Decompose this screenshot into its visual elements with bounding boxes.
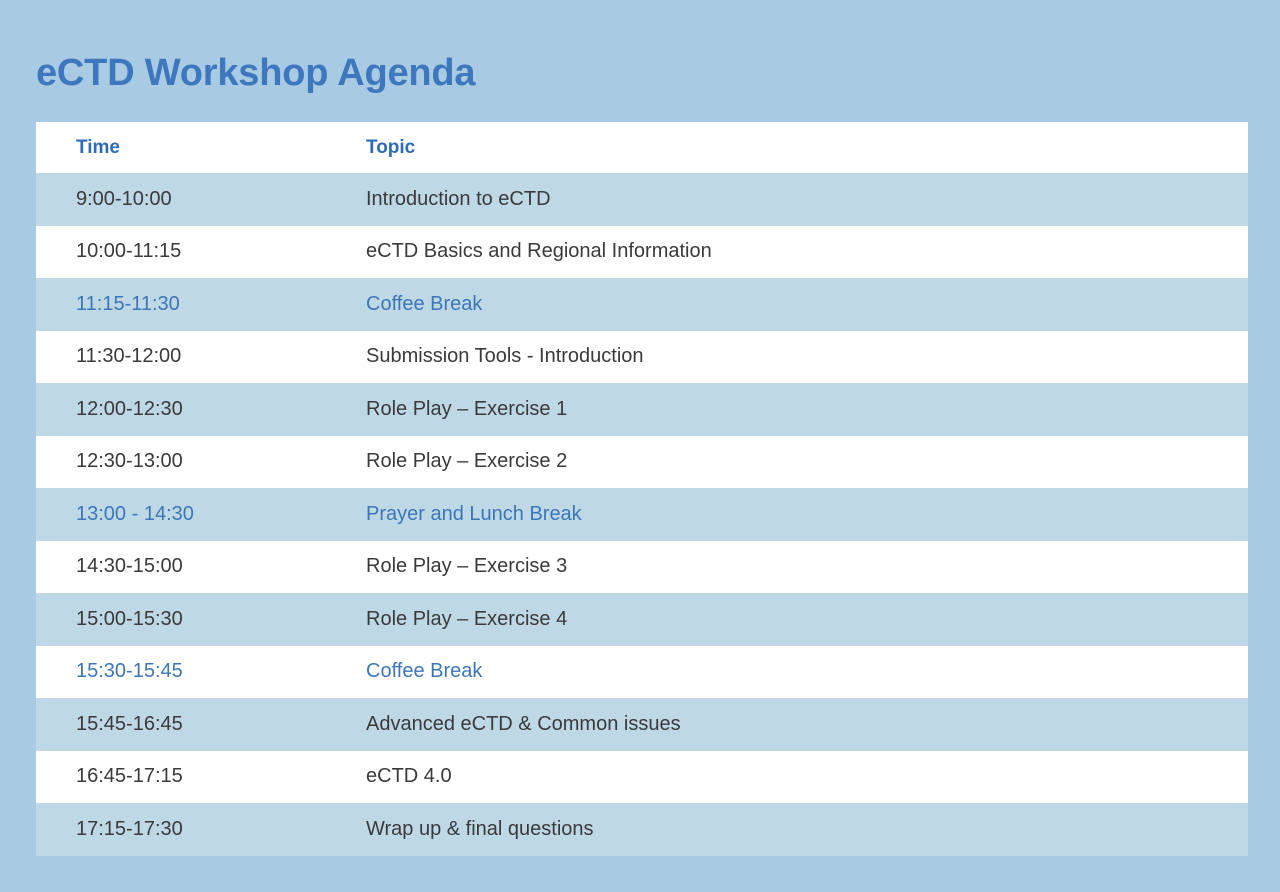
cell-time: 14:30-15:00 — [36, 541, 331, 594]
column-header-time: Time — [36, 122, 331, 173]
table-row: 11:30-12:00Submission Tools - Introducti… — [36, 331, 1248, 384]
table-row: 14:30-15:00Role Play – Exercise 3 — [36, 541, 1248, 594]
cell-time: 13:00 - 14:30 — [36, 488, 331, 541]
column-header-topic: Topic — [331, 122, 1248, 173]
cell-time: 11:15-11:30 — [36, 278, 331, 331]
cell-topic: Advanced eCTD & Common issues — [331, 698, 1248, 751]
table-row: 16:45-17:15eCTD 4.0 — [36, 751, 1248, 804]
cell-topic: eCTD Basics and Regional Information — [331, 226, 1248, 279]
table-header: Time Topic — [36, 122, 1248, 173]
cell-topic: Role Play – Exercise 1 — [331, 383, 1248, 436]
cell-time: 17:15-17:30 — [36, 803, 331, 856]
cell-topic: Role Play – Exercise 4 — [331, 593, 1248, 646]
cell-time: 12:00-12:30 — [36, 383, 331, 436]
cell-topic: Coffee Break — [331, 278, 1248, 331]
table-row: 12:00-12:30Role Play – Exercise 1 — [36, 383, 1248, 436]
table-header-row: Time Topic — [36, 122, 1248, 173]
table-row: 15:00-15:30Role Play – Exercise 4 — [36, 593, 1248, 646]
table-row: 12:30-13:00Role Play – Exercise 2 — [36, 436, 1248, 489]
cell-topic: Introduction to eCTD — [331, 173, 1248, 226]
cell-topic: Wrap up & final questions — [331, 803, 1248, 856]
cell-time: 15:45-16:45 — [36, 698, 331, 751]
page-title: eCTD Workshop Agenda — [36, 48, 475, 98]
cell-topic: Submission Tools - Introduction — [331, 331, 1248, 384]
table-row: 11:15-11:30Coffee Break — [36, 278, 1248, 331]
table-body: 9:00-10:00Introduction to eCTD10:00-11:1… — [36, 173, 1248, 856]
cell-topic: Role Play – Exercise 2 — [331, 436, 1248, 489]
cell-time: 16:45-17:15 — [36, 751, 331, 804]
cell-topic: Prayer and Lunch Break — [331, 488, 1248, 541]
table-row: 9:00-10:00Introduction to eCTD — [36, 173, 1248, 226]
table-row: 10:00-11:15eCTD Basics and Regional Info… — [36, 226, 1248, 279]
cell-time: 15:00-15:30 — [36, 593, 331, 646]
cell-time: 10:00-11:15 — [36, 226, 331, 279]
table-row: 15:45-16:45Advanced eCTD & Common issues — [36, 698, 1248, 751]
cell-topic: Role Play – Exercise 3 — [331, 541, 1248, 594]
cell-time: 9:00-10:00 — [36, 173, 331, 226]
cell-time: 15:30-15:45 — [36, 646, 331, 699]
cell-topic: eCTD 4.0 — [331, 751, 1248, 804]
cell-topic: Coffee Break — [331, 646, 1248, 699]
agenda-page: eCTD Workshop Agenda Time Topic 9:00-10:… — [0, 0, 1280, 892]
table-row: 17:15-17:30Wrap up & final questions — [36, 803, 1248, 856]
table-row: 13:00 - 14:30Prayer and Lunch Break — [36, 488, 1248, 541]
table-row: 15:30-15:45Coffee Break — [36, 646, 1248, 699]
cell-time: 12:30-13:00 — [36, 436, 331, 489]
agenda-table: Time Topic 9:00-10:00Introduction to eCT… — [36, 122, 1248, 856]
cell-time: 11:30-12:00 — [36, 331, 331, 384]
